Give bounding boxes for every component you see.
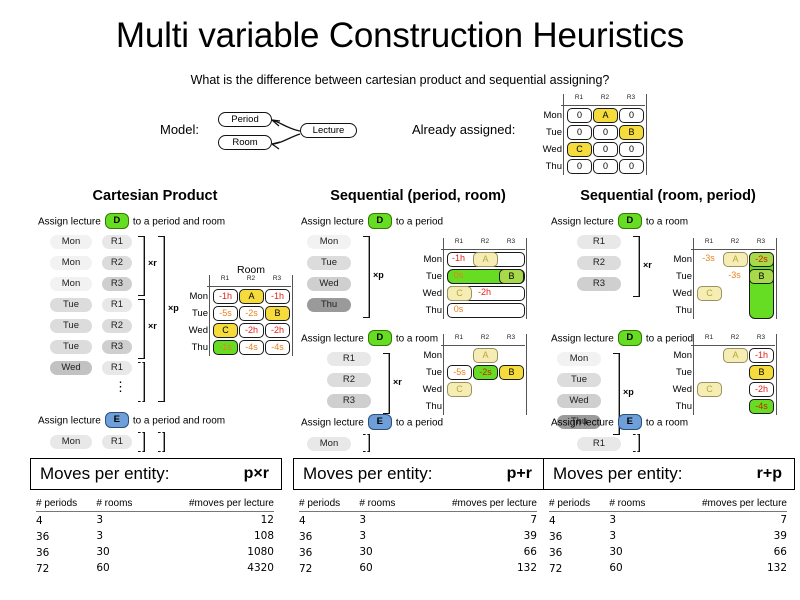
grid-right-rule — [776, 238, 777, 319]
grid-cell: -1h — [213, 289, 238, 304]
table-row: 72604320 — [36, 560, 274, 576]
table-cell: 36 — [549, 544, 609, 560]
table-cell: 108 — [149, 528, 274, 544]
grid-left-rule — [443, 334, 444, 415]
grid-col-header: R1 — [696, 238, 722, 245]
room-tag: R3 — [102, 340, 132, 354]
multiplier-list1: ×p — [373, 270, 384, 280]
multiplier-list2: ×r — [393, 377, 402, 387]
grid-cell: -4s — [239, 340, 264, 355]
assign-line-1-seq-period-room: Assign lectureDto a period — [301, 214, 443, 230]
grid-row-header: Thu — [182, 342, 208, 353]
table-cell: 3 — [609, 512, 662, 529]
bracket-next — [363, 434, 370, 452]
table-cell: 72 — [549, 560, 609, 576]
grid-cell: -2s — [473, 365, 498, 380]
grid-cell: B — [265, 306, 290, 321]
grid-header-rule — [561, 105, 645, 106]
grid-col-header: R3 — [748, 334, 774, 341]
bracket-periods — [158, 236, 165, 402]
bracket-list2 — [383, 353, 390, 414]
table-row: 437 — [549, 512, 787, 529]
grid-cell: -3s — [697, 252, 720, 265]
assign-prefix: Assign lecture — [301, 334, 364, 345]
grid-col-header: R3 — [748, 238, 774, 245]
table-cell: 39 — [662, 528, 787, 544]
table-cell: 60 — [96, 560, 149, 576]
grid-row-header: Wed — [536, 144, 562, 155]
grid-cell: -5s — [213, 306, 238, 321]
grid-cell: -5s — [447, 365, 472, 380]
grid-left-rule — [693, 334, 694, 415]
grid-cell: C — [447, 382, 472, 397]
list2-tag: R3 — [327, 394, 371, 408]
table-row: 363108 — [36, 528, 274, 544]
grid-cell: B — [749, 269, 774, 284]
moves-label: Moves per entity: — [544, 464, 682, 484]
room-tag: R1 — [102, 235, 132, 249]
list2-tag: Mon — [557, 352, 601, 366]
table-cell: 4 — [36, 512, 96, 529]
grid-col-header: R2 — [472, 238, 498, 245]
grid-row-header: Tue — [536, 127, 562, 138]
moves-box-seq-room-period: Moves per entity:r+p — [543, 458, 795, 490]
grid-header-rule — [441, 345, 525, 346]
assign-line-1-seq-room-period: Assign lectureDto a room — [551, 214, 688, 230]
grid-cell: B — [749, 365, 774, 380]
table-cell: 7 — [412, 512, 537, 529]
assign-suffix: to a room — [646, 217, 688, 228]
table-row: 363066 — [299, 544, 537, 560]
column-title-seq-room-period: Sequential (room, period) — [543, 188, 793, 204]
grid-col-header: R1 — [446, 334, 472, 341]
grid-right-rule — [526, 238, 527, 319]
table-cell: 4320 — [149, 560, 274, 576]
grid-row-header: Wed — [416, 384, 442, 395]
table-header-row: # periods# rooms#moves per lecture — [36, 498, 274, 512]
moves-table-cartesian: # periods# rooms#moves per lecture431236… — [36, 498, 274, 576]
table-row: 36339 — [299, 528, 537, 544]
table-cell: 36 — [36, 528, 96, 544]
moves-formula: p×r — [244, 465, 281, 483]
grid-col-header: R1 — [566, 94, 592, 101]
bracket-list1 — [633, 236, 640, 297]
grid-col-header: R2 — [722, 238, 748, 245]
list1-tag: R3 — [577, 277, 621, 291]
grid-cell: 0 — [619, 159, 644, 174]
bracket-list1 — [363, 236, 370, 318]
table-row: 363066 — [549, 544, 787, 560]
grid-cell: A — [723, 252, 748, 267]
period-tag: Wed — [50, 361, 92, 375]
grid-cell: A — [593, 108, 618, 123]
grid-row-header: Wed — [666, 288, 692, 299]
table-cell: 66 — [412, 544, 537, 560]
list1-tag: Mon — [307, 235, 351, 249]
grid-right-rule — [646, 94, 647, 175]
table-row: 36301080 — [36, 544, 274, 560]
grid-col-header: R2 — [238, 275, 264, 282]
grid-left-rule — [209, 275, 210, 356]
lecture-chip-e[interactable]: E — [368, 414, 392, 430]
table-cell: 3 — [359, 528, 412, 544]
grid-col-header: R3 — [498, 238, 524, 245]
grid-cell: 0 — [619, 108, 644, 123]
grid-cell: -1s — [213, 340, 238, 355]
table-col-header: # periods — [549, 498, 609, 512]
assign-prefix: Assign lecture — [551, 418, 614, 429]
grid-row-header: Mon — [182, 291, 208, 302]
table-cell: 12 — [149, 512, 274, 529]
period-tag: Mon — [50, 256, 92, 270]
grid-cell: 0s — [447, 303, 470, 316]
table-col-header: #moves per lecture — [662, 498, 787, 512]
grid-cell: 0 — [593, 142, 618, 157]
table-col-header: # periods — [36, 498, 96, 512]
table-col-header: # rooms — [609, 498, 662, 512]
assign-prefix: Assign lecture — [38, 217, 101, 228]
assign-prefix: Assign lecture — [551, 334, 614, 345]
table-cell: 3 — [609, 528, 662, 544]
table-row: 7260132 — [299, 560, 537, 576]
moves-box-seq-period-room: Moves per entity:p+r — [293, 458, 545, 490]
grid-right-rule — [526, 334, 527, 415]
list2-tag: Wed — [557, 394, 601, 408]
grid-cell: 0 — [593, 159, 618, 174]
grid-cell: B — [499, 365, 524, 380]
list1-tag: Wed — [307, 277, 351, 291]
list1-tag: Thu — [307, 298, 351, 312]
table-cell: 72 — [299, 560, 359, 576]
table-col-header: #moves per lecture — [149, 498, 274, 512]
grid-header-rule — [441, 249, 525, 250]
grid-cell: A — [473, 348, 498, 363]
table-cell: 36 — [299, 528, 359, 544]
table-cell: 1080 — [149, 544, 274, 560]
room-tag-next: R1 — [102, 435, 132, 449]
grid-col-header: R2 — [592, 94, 618, 101]
table-header-row: # periods# rooms#moves per lecture — [549, 498, 787, 512]
assign-suffix: to a period — [396, 418, 443, 429]
moves-box-cartesian: Moves per entity:p×r — [30, 458, 282, 490]
moves-table-seq-period-room: # periods# rooms#moves per lecture437363… — [299, 498, 537, 576]
grid-col-header: R2 — [472, 334, 498, 341]
grid-cell: -2s — [749, 252, 774, 267]
grid-cell: -2h — [265, 323, 290, 338]
grid-right-rule — [776, 334, 777, 415]
moves-table-seq-room-period: # periods# rooms#moves per lecture437363… — [549, 498, 787, 576]
already-assigned-grid: R1R2R3MonTueWedThu0A000BC00000 — [536, 92, 626, 170]
grid-row-header: Thu — [666, 401, 692, 412]
score-grid-cartesian: RoomR1R2R3MonTueWedThu-1hA-1h-5s-2sBC-2h… — [180, 273, 290, 363]
grid-row-header: Mon — [666, 350, 692, 361]
moves-label: Moves per entity: — [31, 464, 169, 484]
grid-row-header: Thu — [416, 305, 442, 316]
bracket-rooms-1 — [138, 236, 145, 296]
table-row: 7260132 — [549, 560, 787, 576]
table-cell: 132 — [662, 560, 787, 576]
score-grid-2-seq-period-room: R1R2R3MonTueWedThuA-5s-2sBC — [411, 332, 531, 424]
grid-cell: -2h — [239, 323, 264, 338]
score-grid-2-seq-room-period: R1R2R3MonTueWedThuA-1hBC-2h-4s — [661, 332, 781, 424]
multiplier-p: ×p — [168, 303, 179, 313]
grid-cell: 0 — [593, 125, 618, 140]
grid-cell: 0 — [619, 142, 644, 157]
lecture-chip-e[interactable]: E — [618, 414, 642, 430]
table-col-header: # rooms — [359, 498, 412, 512]
column-title-seq-period-room: Sequential (period, room) — [293, 188, 543, 204]
assign-suffix: to a period and room — [133, 416, 225, 427]
grid-row-header: Mon — [536, 110, 562, 121]
list1-tag: Tue — [307, 256, 351, 270]
grid-row-header: Thu — [416, 401, 442, 412]
grid-col-header: R3 — [498, 334, 524, 341]
grid-header-rule — [691, 249, 775, 250]
table-cell: 36 — [549, 528, 609, 544]
moves-formula: p+r — [507, 465, 544, 483]
grid-cell: C — [697, 286, 722, 301]
assign-prefix: Assign lecture — [551, 217, 614, 228]
score-grid-1-seq-room-period: R1R2R3MonTueWedThu-3sA-2s-3sBC — [661, 236, 781, 328]
assign-line-3-seq-room-period: Assign lectureEto a room — [551, 415, 688, 431]
grid-row-header: Tue — [182, 308, 208, 319]
table-cell: 36 — [299, 544, 359, 560]
slide-root: Multi variable Construction Heuristics W… — [0, 0, 800, 600]
assign-prefix: Assign lecture — [301, 418, 364, 429]
table-cell: 7 — [662, 512, 787, 529]
bracket-rooms-2 — [138, 299, 145, 359]
grid-left-rule — [563, 94, 564, 175]
grid-row-header: Tue — [416, 367, 442, 378]
multiplier-list1: ×r — [643, 260, 652, 270]
grid-cell: -3s — [723, 269, 746, 282]
bracket-rooms-3 — [138, 362, 145, 402]
grid-cell: A — [239, 289, 264, 304]
grid-header-rule — [207, 286, 291, 287]
assign-prefix: Assign lecture — [38, 416, 101, 427]
grid-col-header: R1 — [696, 334, 722, 341]
period-tag: Tue — [50, 340, 92, 354]
table-cell: 39 — [412, 528, 537, 544]
grid-row-header: Mon — [666, 254, 692, 265]
table-cell: 30 — [96, 544, 149, 560]
grid-cell: -1h — [447, 252, 470, 265]
grid-row-header: Thu — [536, 161, 562, 172]
vertical-ellipsis-icon: ⋮ — [114, 384, 127, 389]
grid-row-header: Mon — [416, 350, 442, 361]
lecture-chip-d[interactable]: D — [105, 213, 129, 229]
lecture-chip-d[interactable]: D — [618, 213, 642, 229]
grid-cell: C — [213, 323, 238, 338]
room-tag: R2 — [102, 319, 132, 333]
grid-cell: C — [697, 382, 722, 397]
room-tag: R2 — [102, 256, 132, 270]
lecture-chip-d[interactable]: D — [368, 213, 392, 229]
table-cell: 72 — [36, 560, 96, 576]
bracket-next-1 — [138, 432, 145, 452]
grid-header-rule — [691, 345, 775, 346]
room-tag: R3 — [102, 277, 132, 291]
grid-row-header: Tue — [416, 271, 442, 282]
table-cell: 36 — [36, 544, 96, 560]
table-cell: 4 — [299, 512, 359, 529]
list1-tag: R2 — [577, 256, 621, 270]
table-cell: 3 — [96, 528, 149, 544]
grid-left-rule — [443, 238, 444, 319]
table-col-header: # rooms — [96, 498, 149, 512]
grid-cell: -2h — [749, 382, 774, 397]
table-col-header: #moves per lecture — [412, 498, 537, 512]
list-next-tag: Mon — [307, 437, 351, 451]
bracket-next — [633, 434, 640, 452]
grid-cell: B — [499, 269, 524, 284]
multiplier-list2: ×p — [623, 387, 634, 397]
grid-cell: 0 — [567, 108, 592, 123]
grid-cell: B — [619, 125, 644, 140]
table-cell: 3 — [96, 512, 149, 529]
grid-row-header: Mon — [416, 254, 442, 265]
page-title: Multi variable Construction Heuristics — [0, 16, 800, 56]
assign-prefix: Assign lecture — [301, 217, 364, 228]
grid-col-header: R1 — [212, 275, 238, 282]
model-arrows-icon — [150, 100, 380, 170]
lecture-chip-d[interactable]: D — [368, 330, 392, 346]
grid-cell: C — [567, 142, 592, 157]
grid-row-header: Wed — [182, 325, 208, 336]
table-cell: 4 — [549, 512, 609, 529]
period-tag: Mon — [50, 235, 92, 249]
room-tag: R1 — [102, 361, 132, 375]
table-col-header: # periods — [299, 498, 359, 512]
grid-col-header: R3 — [264, 275, 290, 282]
table-row: 4312 — [36, 512, 274, 529]
table-row: 36339 — [549, 528, 787, 544]
grid-row-header: Thu — [666, 305, 692, 316]
period-tag: Mon — [50, 277, 92, 291]
grid-cell: C — [447, 286, 472, 301]
column-title-cartesian: Cartesian Product — [30, 188, 280, 204]
assign-line-3-seq-period-room: Assign lectureEto a period — [301, 415, 443, 431]
assign-suffix: to a period — [396, 217, 443, 228]
assign-line-2-cartesian: Assign lectureEto a period and room — [38, 413, 225, 429]
list2-tag: Tue — [557, 373, 601, 387]
grid-cell: -2s — [239, 306, 264, 321]
list1-tag: R1 — [577, 235, 621, 249]
table-cell: 60 — [609, 560, 662, 576]
page-subtitle: What is the difference between cartesian… — [0, 73, 800, 87]
grid-cell: -2h — [473, 286, 496, 299]
lecture-chip-d[interactable]: D — [618, 330, 642, 346]
bracket-next-2 — [158, 432, 165, 452]
grid-col-header: R2 — [722, 334, 748, 341]
table-row: 437 — [299, 512, 537, 529]
grid-cell: 0 — [567, 125, 592, 140]
lecture-chip-e[interactable]: E — [105, 412, 129, 428]
table-cell: 60 — [359, 560, 412, 576]
room-tag: R1 — [102, 298, 132, 312]
table-cell: 66 — [662, 544, 787, 560]
score-grid-1-seq-period-room: R1R2R3MonTueWedThu-1hA0sBC-2h0s — [411, 236, 531, 328]
table-cell: 3 — [359, 512, 412, 529]
moves-label: Moves per entity: — [294, 464, 432, 484]
assign-suffix: to a period and room — [133, 217, 225, 228]
grid-row-header: Wed — [666, 384, 692, 395]
grid-cell: -1h — [265, 289, 290, 304]
grid-cell: 0 — [567, 159, 592, 174]
grid-cell: -1h — [749, 348, 774, 363]
period-tag: Tue — [50, 319, 92, 333]
assign-suffix: to a room — [646, 418, 688, 429]
grid-row-header: Tue — [666, 271, 692, 282]
table-cell: 30 — [609, 544, 662, 560]
grid-col-header: R3 — [618, 94, 644, 101]
assign-line-1-cartesian: Assign lectureDto a period and room — [38, 214, 225, 230]
grid-row-header: Tue — [666, 367, 692, 378]
list2-tag: R1 — [327, 352, 371, 366]
grid-cell: -4s — [749, 399, 774, 414]
period-tag: Tue — [50, 298, 92, 312]
multiplier-r-1: ×r — [148, 258, 157, 268]
already-assigned-label: Already assigned: — [412, 122, 515, 137]
grid-cell: A — [473, 252, 498, 267]
grid-col-header: R1 — [446, 238, 472, 245]
grid-cell: -4s — [265, 340, 290, 355]
grid-left-rule — [693, 238, 694, 319]
table-cell: 132 — [412, 560, 537, 576]
moves-formula: r+p — [757, 465, 794, 483]
grid-cell: 0s — [447, 269, 470, 282]
grid-right-rule — [292, 275, 293, 356]
grid-cell: A — [723, 348, 748, 363]
list2-tag: R2 — [327, 373, 371, 387]
period-tag-next: Mon — [50, 435, 92, 449]
table-cell: 30 — [359, 544, 412, 560]
table-header-row: # periods# rooms#moves per lecture — [299, 498, 537, 512]
multiplier-r-2: ×r — [148, 321, 157, 331]
grid-row-header: Wed — [416, 288, 442, 299]
list-next-tag: R1 — [577, 437, 621, 451]
